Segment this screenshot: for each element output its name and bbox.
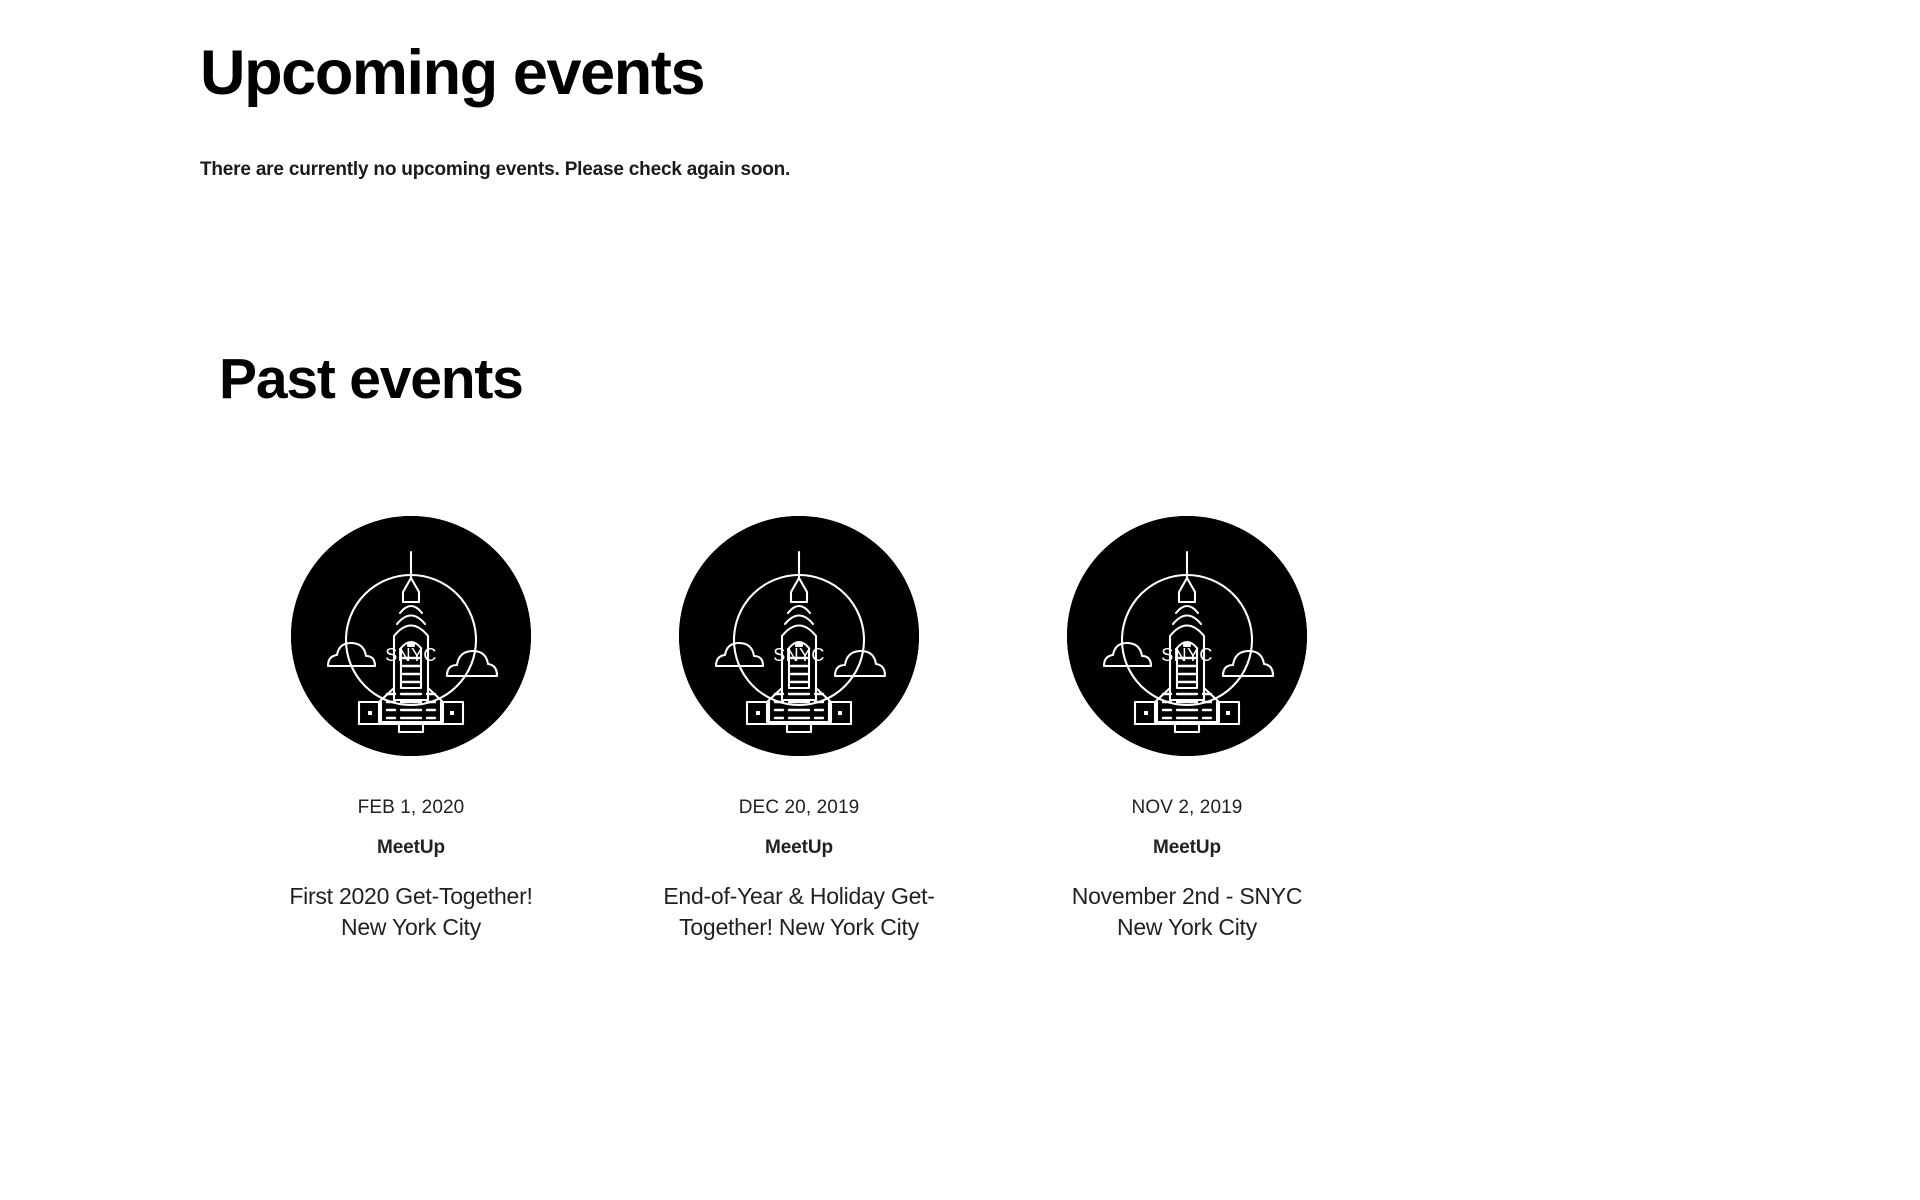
upcoming-events-section: Upcoming events There are currently no u… <box>200 40 1700 184</box>
event-date: DEC 20, 2019 <box>739 756 860 820</box>
upcoming-empty-message: There are currently no upcoming events. … <box>200 106 1700 184</box>
event-type: MeetUp <box>1153 820 1221 860</box>
logo-text: SNYC <box>773 645 825 665</box>
logo-text: SNYC <box>1161 645 1213 665</box>
past-events-grid: SNYC FEB 1, 2020 MeetUp First 2020 Get-T… <box>291 516 1591 944</box>
past-events-title: Past events <box>219 350 1819 410</box>
events-page: Upcoming events There are currently no u… <box>0 0 1920 1200</box>
past-events-section: Past events <box>219 350 1819 410</box>
snyc-skyline-logo-icon: SNYC <box>291 516 531 756</box>
logo-text: SNYC <box>385 645 437 665</box>
page-title: Upcoming events <box>200 40 1700 106</box>
snyc-skyline-logo-icon: SNYC <box>679 516 919 756</box>
event-card[interactable]: SNYC NOV 2, 2019 MeetUp November 2nd - S… <box>1067 516 1307 944</box>
event-name: November 2nd - SNYC New York City <box>1047 860 1327 944</box>
event-date: NOV 2, 2019 <box>1132 756 1243 820</box>
event-name: First 2020 Get-Together! New York City <box>271 860 551 944</box>
event-type: MeetUp <box>377 820 445 860</box>
event-date: FEB 1, 2020 <box>358 756 465 820</box>
event-card[interactable]: SNYC DEC 20, 2019 MeetUp End-of-Year & H… <box>679 516 919 944</box>
event-type: MeetUp <box>765 820 833 860</box>
event-card[interactable]: SNYC FEB 1, 2020 MeetUp First 2020 Get-T… <box>291 516 531 944</box>
snyc-skyline-logo-icon: SNYC <box>1067 516 1307 756</box>
event-name: End-of-Year & Holiday Get-Together! New … <box>659 860 939 944</box>
